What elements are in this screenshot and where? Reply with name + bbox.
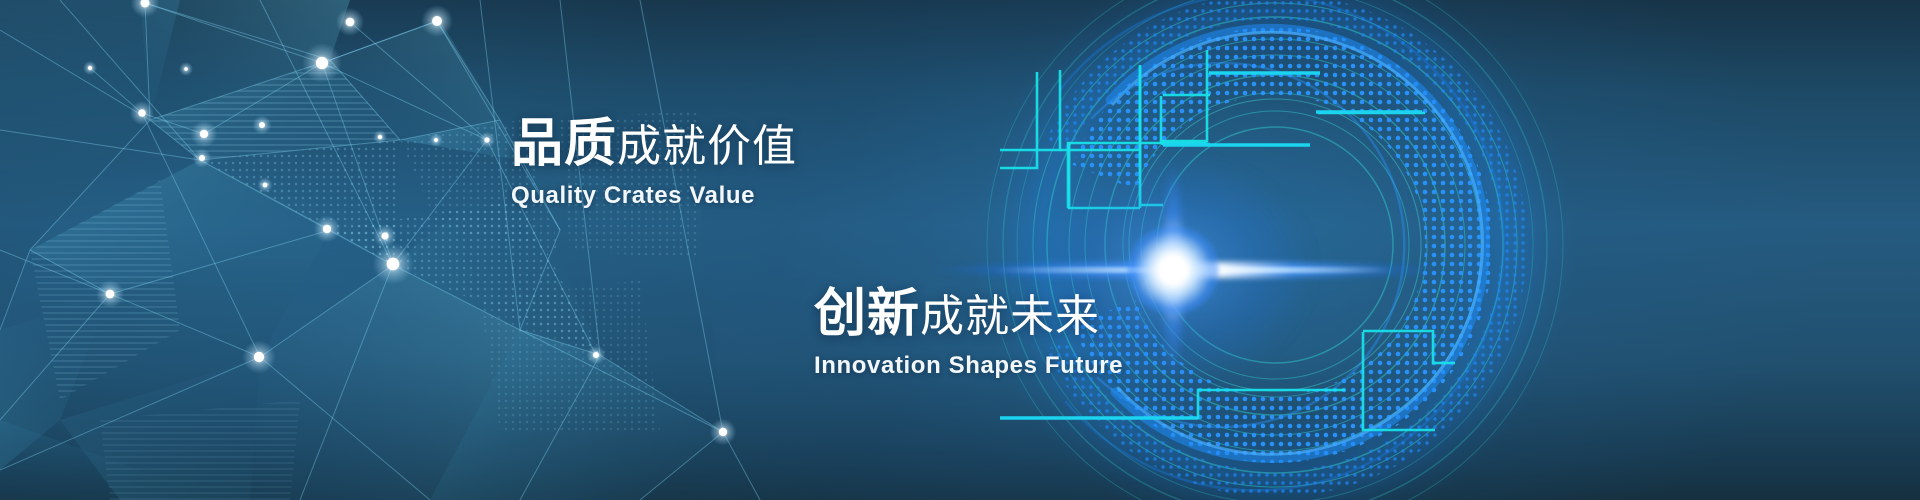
tagline-quality-english: Quality Crates Value	[511, 182, 797, 210]
polygon-node-glow	[96, 280, 124, 308]
polygon-node-glow	[192, 148, 211, 167]
ring-circle	[1047, 17, 1503, 473]
tagline-innovation-chinese-strong: 创新	[814, 288, 920, 340]
polygon-node-glow	[131, 0, 160, 17]
flare-core	[1127, 226, 1219, 314]
polygon-node	[719, 428, 727, 436]
polygon-facets	[0, 0, 723, 500]
polygon-node-glow	[257, 177, 272, 192]
flare-vertical-spike	[1164, 162, 1182, 378]
polygon-node	[106, 290, 115, 299]
tagline-quality-chinese-strong: 品质	[511, 118, 617, 170]
polygon-node-glow	[421, 5, 453, 37]
ring-circle	[1105, 75, 1445, 415]
tagline-innovation: 创新 成就未来 Innovation Shapes Future	[814, 288, 1123, 380]
tagline-innovation-chinese-light: 成就未来	[920, 295, 1100, 339]
polygon-node-glow	[373, 244, 414, 285]
tech-ring-graphic	[0, 0, 1920, 500]
polygon-node-glow	[242, 340, 275, 373]
polygon-node-glow	[429, 133, 443, 147]
polygon-node-glow	[191, 121, 218, 148]
polygon-node-glow	[179, 62, 193, 76]
polygon-node	[378, 135, 382, 139]
polygon-node-glow	[130, 101, 154, 125]
ring-circle	[987, 0, 1563, 500]
tagline-innovation-english: Innovation Shapes Future	[814, 352, 1123, 380]
polygon-node	[323, 225, 331, 233]
polygon-node	[484, 137, 489, 142]
tagline-quality-chinese-light: 成就价值	[617, 125, 797, 169]
polygon-node	[184, 67, 188, 71]
polygon-node	[259, 122, 265, 128]
polygon-node	[88, 66, 92, 70]
flare-core-streak	[993, 267, 1393, 273]
polygon-node	[138, 109, 146, 117]
ring-glow	[975, 0, 1575, 500]
polygon-node	[381, 232, 388, 239]
ring-circle	[1033, 3, 1517, 487]
ring-circle	[1017, 0, 1533, 500]
polygon-node-glow	[586, 345, 605, 364]
ring-halftone-band	[1023, 0, 1527, 497]
ring-circle	[1141, 111, 1409, 379]
ring-circle	[1085, 55, 1465, 435]
polygon-node-glow	[373, 224, 396, 247]
polygon-node	[254, 352, 264, 362]
polygon-node-glow	[83, 61, 97, 75]
polygon-node	[346, 18, 355, 27]
polygon-node	[434, 138, 438, 142]
polygon-node	[593, 352, 599, 358]
polygon-node	[316, 57, 328, 69]
polygon-network-graphic	[0, 0, 1920, 500]
polygon-edges	[0, 0, 760, 500]
polygon-node	[387, 258, 400, 271]
ring-circle	[1003, 0, 1547, 500]
polygon-nodes	[83, 0, 736, 445]
polygon-node-glow	[336, 8, 364, 36]
polygon-node-glow	[302, 43, 342, 83]
polygon-node	[432, 16, 442, 26]
polygon-node-glow	[314, 216, 341, 243]
polygon-node	[141, 0, 150, 8]
polygon-node-glow	[252, 115, 271, 134]
polygon-node	[199, 155, 205, 161]
polygon-node-glow	[710, 419, 737, 446]
polygon-node	[200, 130, 208, 138]
ring-circle	[1069, 39, 1481, 451]
hero-banner: 品质 成就价值 Quality Crates Value 创新 成就未来 Inn…	[0, 0, 1920, 500]
ring-circle	[1123, 93, 1427, 397]
ring-concentric-circles	[987, 0, 1563, 500]
flare-horizontal-streak	[928, 262, 1448, 278]
tagline-innovation-chinese: 创新 成就未来	[814, 288, 1123, 340]
ring-bright-arcs	[1060, 0, 1504, 490]
tagline-quality-chinese: 品质 成就价值	[511, 118, 797, 170]
polygon-node	[263, 183, 268, 188]
ring-inner-edge	[1129, 99, 1421, 391]
tagline-quality: 品质 成就价值 Quality Crates Value	[511, 118, 797, 210]
polygon-node-glow	[373, 130, 387, 144]
ring-circle	[1157, 127, 1393, 363]
polygon-node-glow	[479, 132, 496, 149]
